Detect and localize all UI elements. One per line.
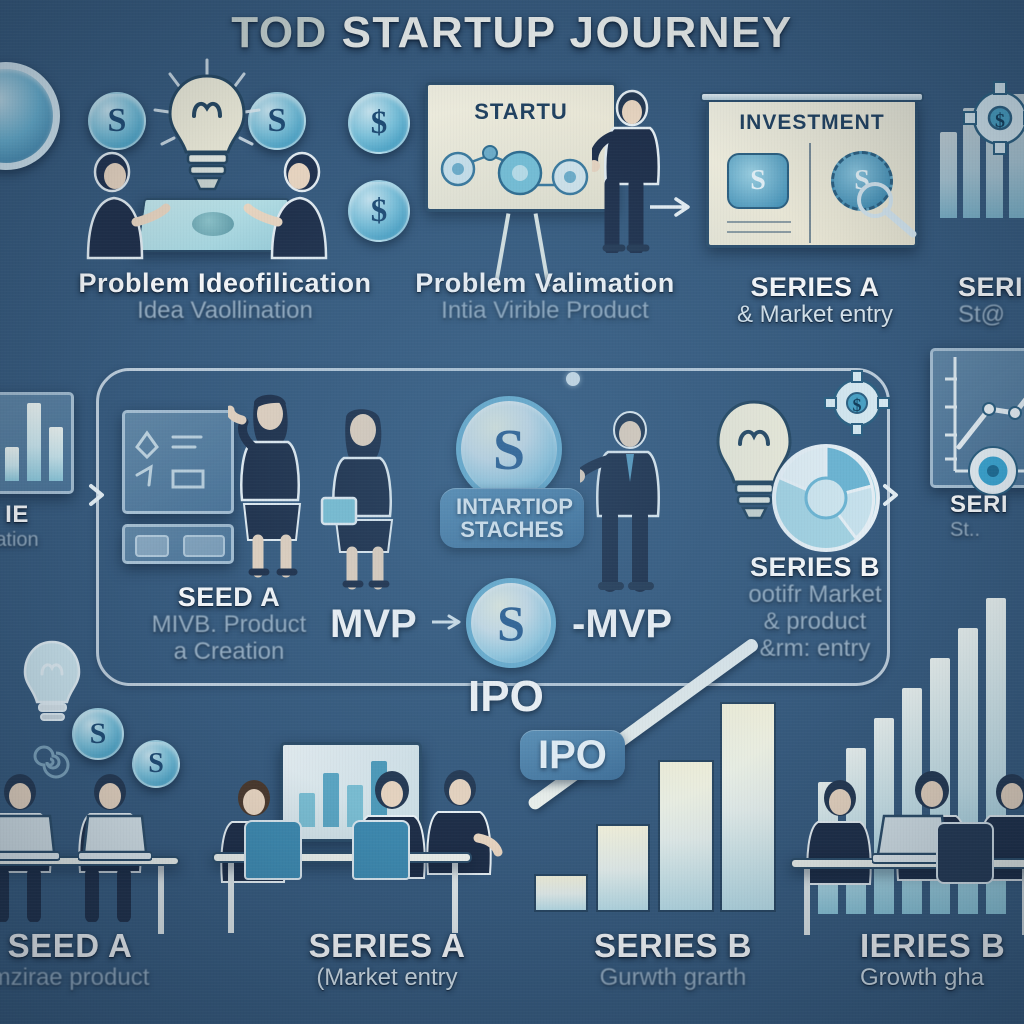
label-sub: (Market entry [262,965,512,992]
desk-leg-icon [158,866,164,934]
coin-glyph: S [497,594,525,652]
stage-label-problem-identification: Problem Ideofilication Idea Vaollination [60,268,390,325]
ipo-badge: IPO [520,730,625,780]
poster-line-icon [727,231,791,233]
desk-leg-icon [804,869,810,935]
label-heading: SERI [950,492,1024,519]
coin-glyph: S [108,102,127,140]
label-heading: IE [0,502,82,529]
node-dot-icon [566,372,580,386]
label-sub: mzirae product [0,965,190,992]
poster-divider [809,143,811,243]
label-sub: Intia Virible Product [380,298,710,325]
dollar-coin-icon: $ [348,92,410,154]
label-sub-2: & product [700,609,930,636]
desk-leg-icon [228,863,234,933]
seed-whiteboard-panel [122,410,234,514]
page-title: TOD STARTUP JOURNEY [0,8,1024,58]
label-heading: IERIES B [860,928,1024,965]
label-sub: St.. [950,519,1024,541]
person-icon [240,150,345,265]
whiteboard-panel: STARTU [425,82,617,212]
chevron-right-icon [878,482,904,513]
label-heading: SERI [958,272,1024,302]
stage-label-series-b-mid: SERIES B ootifr Market & product &rm: en… [700,552,930,663]
label-sub: St@ [958,302,1024,329]
arrow-icon [432,612,466,637]
chart-bar [5,447,19,481]
gear-icon: $ [824,370,890,441]
laptop-icon [0,812,60,871]
title-garbled-prefix: TOD [231,8,328,57]
label-sub-1: MIVB. Product [120,612,338,639]
chart-bar [658,760,714,912]
stage-label-series-cut-top: SERI St@ [958,272,1024,329]
label-sub-1: ootifr Market [700,582,930,609]
desk-leg-icon [452,863,458,933]
thumb-icon [135,535,169,557]
chart-bar [27,403,41,481]
poster-line-icon [727,221,791,223]
stage-label-problem-validation: Problem Valimation Intia Virible Product [380,268,710,325]
coin-glyph: S [90,717,107,751]
chart-bar [49,427,63,481]
stage-label-series-b-cut-bottom: IERIES B Growth gha [860,928,1024,992]
s-coin-icon: S [72,708,124,760]
s-coin-icon: S [88,92,146,150]
arrow-icon [650,196,696,223]
whiteboard-text: STARTU [428,99,614,125]
person-icon [70,150,175,265]
badge-line-1: INTARTIOP [456,494,573,519]
chart-bar [596,824,650,912]
stage-label-seed-a-mid: SEED A MIVB. Product a Creation [120,582,338,666]
label-heading: SEED A [0,928,190,965]
label-sub: ation [0,529,82,551]
coin-sketch-left-icon: S [727,153,789,209]
person-icon [420,768,506,933]
svg-text:$: $ [853,395,862,415]
badge-label: IPO [538,733,607,777]
stage-label-mvp-left: MVP [330,602,417,647]
badge-line-2: STACHES [460,517,564,542]
title-rest: STARTUP JOURNEY [342,8,793,57]
s-coin-icon: S [456,396,562,502]
thumb-icon [183,535,225,557]
person-icon [580,408,672,598]
stage-label-seed-a-bottom: SEED A mzirae product [0,928,190,992]
office-chair-icon [244,820,302,880]
svg-text:$: $ [995,110,1005,132]
stage-label-series-a-top: SERIES A & Market entry [700,272,930,329]
stage-label-mvp-right: -MVP [572,602,672,647]
label-heading: SERIES A [700,272,930,302]
chevron-right-icon [84,482,110,513]
stage-label-series-a-bottom: SERIES A (Market entry [262,928,512,992]
chart-bar [323,773,339,827]
label-sub: Growth gha [860,965,1024,992]
chart-bar [299,793,315,827]
label-heading: SERIES B [548,928,798,965]
stage-label-right-cut-mid: SERI St.. [950,492,1024,541]
coin-glyph: $ [371,193,388,230]
label-sub: Gurwth grarth [548,965,798,992]
magnifier-icon [855,180,919,245]
label-sub-2: a Creation [120,639,338,666]
coin-glyph: S [268,102,287,140]
stage-label-ipo-plain: IPO [468,672,544,722]
office-chair-icon [352,820,410,880]
bar-chart-icon [940,132,957,218]
clock-coin-icon [0,62,60,170]
status-badge: INTARTIOP STACHES [440,488,584,548]
label-heading: SEED A [120,582,338,612]
stage-label-left-cut-mid: IE ation [0,502,82,551]
label-heading: Problem Valimation [380,268,710,298]
person-icon [320,402,408,595]
label-heading: SERIES B [700,552,930,582]
poster-rail-icon [700,92,924,102]
coin-glyph: $ [371,105,388,142]
mini-bar-chart-panel [0,392,74,494]
label-sub: Idea Vaollination [60,298,390,325]
person-icon [592,88,672,258]
briefcase-icon [322,498,356,524]
dollar-coin-icon: $ [348,180,410,242]
coin-glyph: S [493,416,525,483]
laptop-icon [78,812,152,871]
table-detail-icon [192,212,234,236]
chart-bar [720,702,776,912]
seed-strip-panel [122,524,234,564]
infographic-canvas: TOD STARTUP JOURNEY S S [0,0,1024,1024]
poster-title: INVESTMENT [709,111,915,135]
stage-label-series-b-bottom: SERIES B Gurwth grarth [548,928,798,992]
label-sub-3: &rm: entry [700,636,930,663]
chart-bar [534,874,588,912]
label-heading: Problem Ideofilication [60,268,390,298]
label-sub: & Market entry [700,302,930,329]
s-coin-icon: S [466,578,556,668]
person-icon [228,388,316,583]
label-heading: SERIES A [262,928,512,965]
office-chair-icon [936,822,994,884]
gear-icon: $ [962,80,1024,161]
pie-chart-icon [768,440,884,561]
